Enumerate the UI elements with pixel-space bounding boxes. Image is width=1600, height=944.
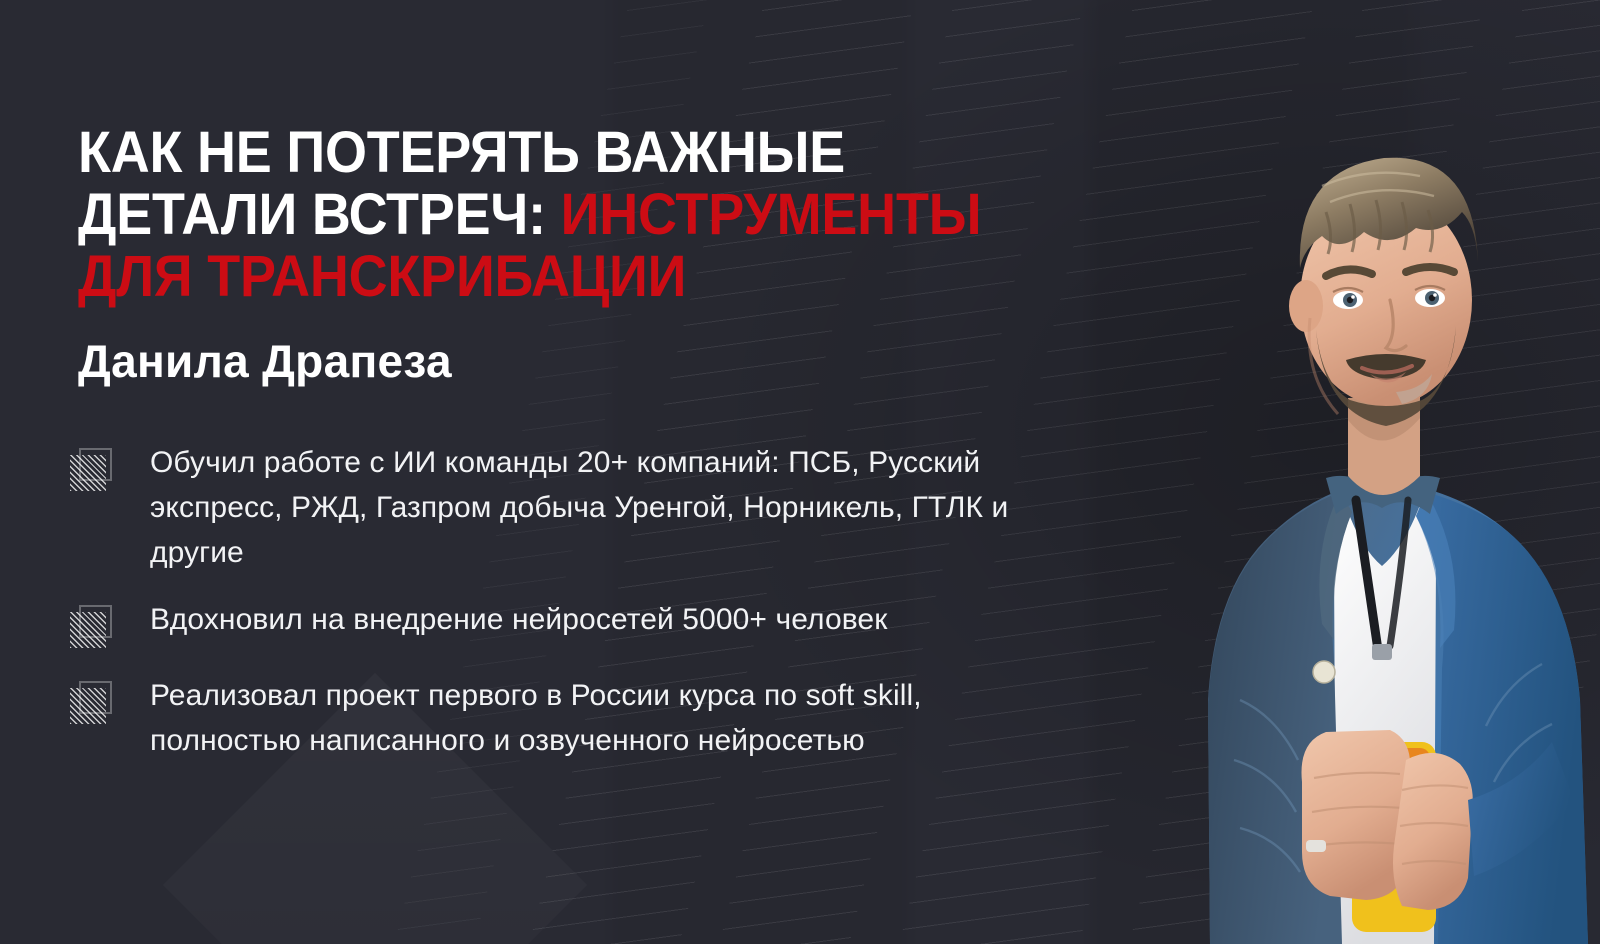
title-line-2-white: ВСТРЕЧ: [312, 182, 561, 247]
slide-title: КАК НЕ ПОТЕРЯТЬ ВАЖНЫЕ ДЕТАЛИ ВСТРЕЧ: ИН… [78, 122, 1064, 308]
presentation-slide: КАК НЕ ПОТЕРЯТЬ ВАЖНЫЕ ДЕТАЛИ ВСТРЕЧ: ИН… [0, 0, 1600, 944]
bullet-list: Обучил работе с ИИ команды 20+ компаний:… [70, 440, 1070, 785]
title-line-3-accent: ТРАНСКРИБАЦИИ [207, 244, 686, 309]
speaker-photo-illustration [1090, 0, 1600, 944]
list-item-text: Обучил работе с ИИ команды 20+ компаний:… [150, 440, 1030, 575]
list-item: Реализовал проект первого в России курса… [70, 673, 1070, 763]
hatched-square-icon [70, 448, 114, 494]
list-item: Вдохновил на внедрение нейросетей 5000+ … [70, 597, 1070, 651]
square-hatch-fill [70, 455, 106, 491]
square-hatch-fill [70, 688, 106, 724]
list-item-text: Реализовал проект первого в России курса… [150, 673, 1030, 763]
speaker-photo [1090, 0, 1600, 944]
hatched-square-icon [70, 681, 114, 727]
presenter-name: Данила Драпеза [78, 334, 452, 388]
square-hatch-fill [70, 612, 106, 648]
list-item: Обучил работе с ИИ команды 20+ компаний:… [70, 440, 1070, 575]
list-item-text: Вдохновил на внедрение нейросетей 5000+ … [150, 597, 1030, 651]
hatched-square-icon [70, 605, 114, 651]
slide-content: КАК НЕ ПОТЕРЯТЬ ВАЖНЫЕ ДЕТАЛИ ВСТРЕЧ: ИН… [0, 0, 1150, 944]
